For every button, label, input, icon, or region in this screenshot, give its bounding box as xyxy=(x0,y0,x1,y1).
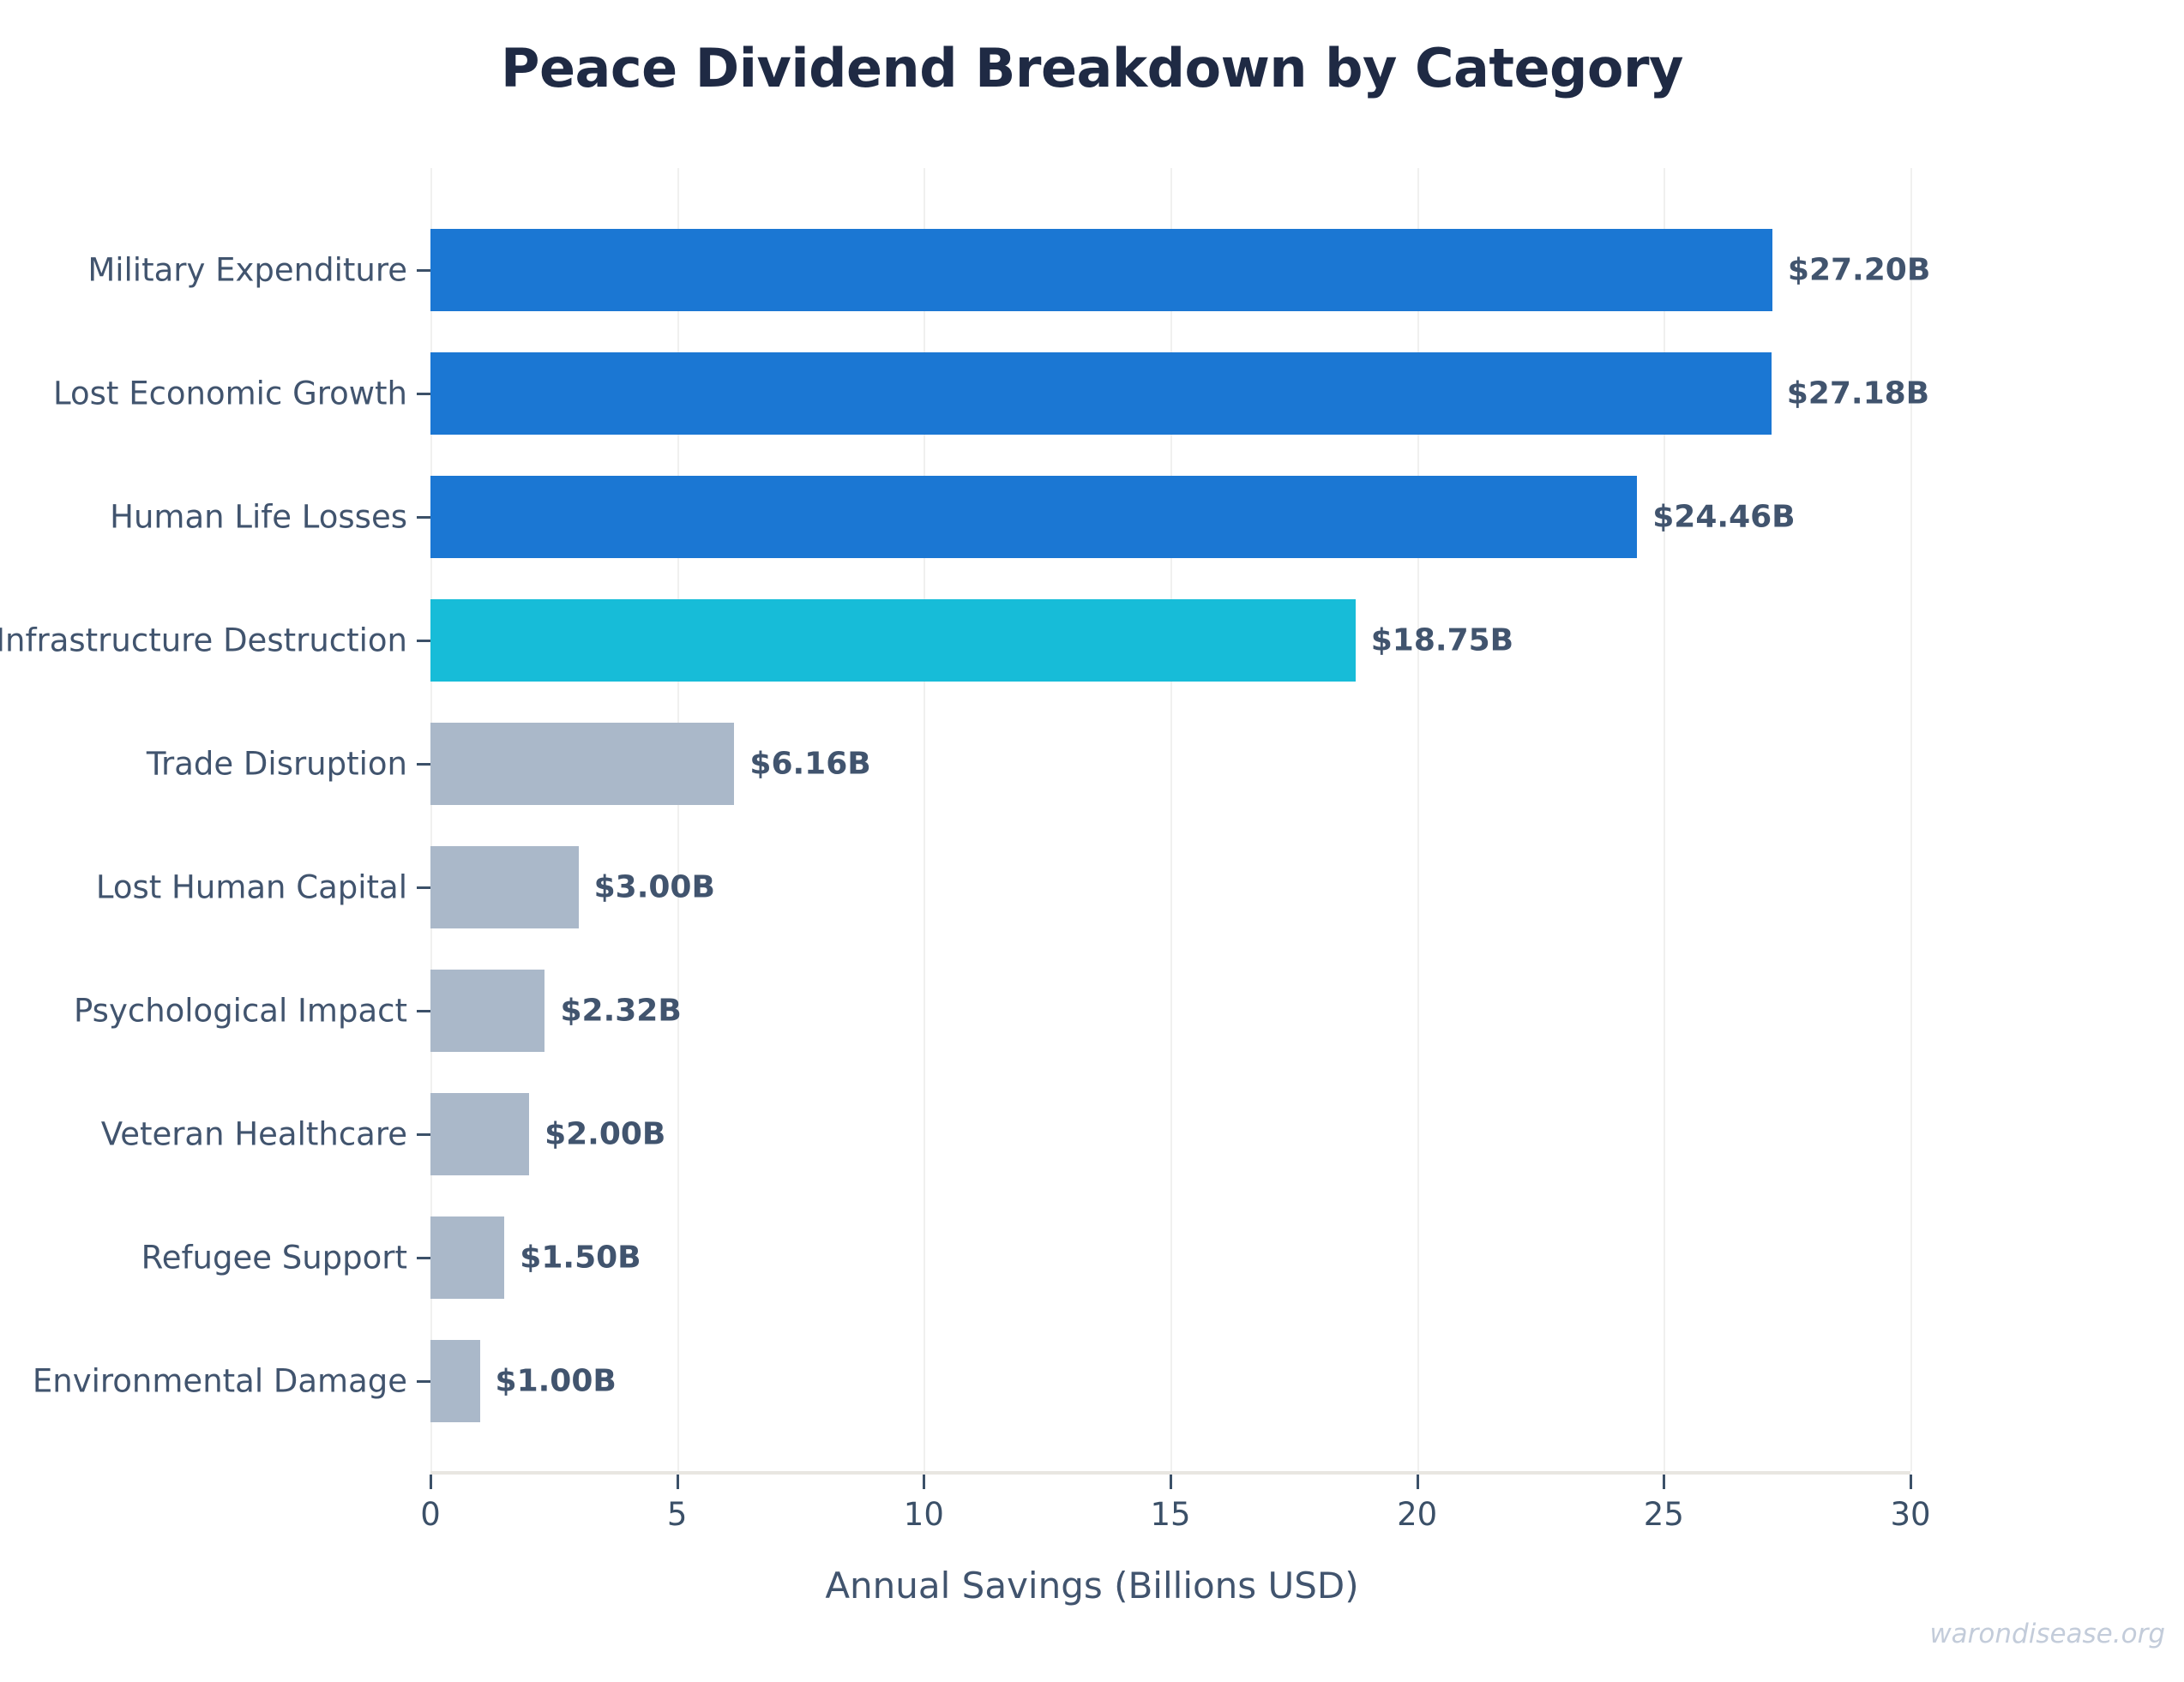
y-tick-mark xyxy=(417,886,430,889)
y-tick-mark xyxy=(417,393,430,395)
bar-value-label: $2.00B xyxy=(544,1117,665,1152)
x-tick-mark xyxy=(1170,1475,1172,1489)
y-axis-category-label: Trade Disruption xyxy=(147,746,407,783)
bar-row: $27.20B xyxy=(430,229,1910,311)
x-tick-mark xyxy=(1417,1475,1419,1489)
x-tick-label: 0 xyxy=(420,1496,441,1533)
bar-row: $27.18B xyxy=(430,352,1910,435)
y-tick-mark xyxy=(417,763,430,766)
x-tick-label: 15 xyxy=(1150,1496,1190,1533)
x-tick-label: 20 xyxy=(1397,1496,1437,1533)
bar[interactable] xyxy=(430,352,1772,435)
bar-row: $1.00B xyxy=(430,1340,1910,1422)
x-tick-mark xyxy=(677,1475,679,1489)
bar-value-label: $27.20B xyxy=(1788,253,1930,288)
x-axis-title: Annual Savings (Billions USD) xyxy=(0,1565,2184,1607)
bar[interactable] xyxy=(430,229,1772,311)
y-axis-category-label: Veteran Healthcare xyxy=(101,1116,407,1153)
bar-row: $2.00B xyxy=(430,1093,1910,1175)
bar-row: $1.50B xyxy=(430,1216,1910,1299)
y-tick-mark xyxy=(417,640,430,642)
bar[interactable] xyxy=(430,476,1637,558)
y-tick-mark xyxy=(417,516,430,519)
bar-value-label: $2.32B xyxy=(560,994,681,1029)
x-tick-mark xyxy=(923,1475,925,1489)
y-axis-category-label: Infrastructure Destruction xyxy=(0,622,407,659)
bar[interactable] xyxy=(430,1216,504,1299)
x-tick-label: 25 xyxy=(1644,1496,1684,1533)
bar-row: $3.00B xyxy=(430,846,1910,928)
bar[interactable] xyxy=(430,1340,480,1422)
bar-row: $24.46B xyxy=(430,476,1910,558)
bar-value-label: $3.00B xyxy=(594,870,715,905)
bar-value-label: $24.46B xyxy=(1652,500,1795,535)
y-tick-mark xyxy=(417,1133,430,1136)
y-axis-category-label: Human Life Losses xyxy=(110,499,407,536)
bar-row: $2.32B xyxy=(430,970,1910,1052)
y-axis-category-label: Lost Economic Growth xyxy=(53,375,407,412)
y-axis-category-label: Environmental Damage xyxy=(33,1363,407,1400)
y-tick-mark xyxy=(417,269,430,272)
x-tick-mark xyxy=(1663,1475,1665,1489)
x-tick-mark xyxy=(430,1475,432,1489)
x-tick-label: 5 xyxy=(667,1496,688,1533)
bar[interactable] xyxy=(430,1093,529,1175)
y-axis-category-label: Military Expenditure xyxy=(87,252,407,289)
x-tick-label: 30 xyxy=(1890,1496,1930,1533)
bar[interactable] xyxy=(430,846,579,928)
bar-value-label: $1.00B xyxy=(496,1364,617,1399)
bar-value-label: $27.18B xyxy=(1787,376,1929,411)
x-gridline xyxy=(1910,168,1912,1471)
bar[interactable] xyxy=(430,599,1356,682)
bar-value-label: $1.50B xyxy=(520,1240,641,1276)
bar[interactable] xyxy=(430,970,544,1052)
x-tick-label: 10 xyxy=(904,1496,944,1533)
x-tick-mark xyxy=(1910,1475,1912,1489)
y-tick-mark xyxy=(417,1010,430,1012)
bar-value-label: $18.75B xyxy=(1371,623,1513,658)
y-axis-category-label: Lost Human Capital xyxy=(96,869,407,906)
page-title: Peace Dividend Breakdown by Category xyxy=(0,39,2184,98)
watermark: warondisease.org xyxy=(1929,1619,2165,1649)
bar[interactable] xyxy=(430,723,734,805)
y-tick-mark xyxy=(417,1257,430,1259)
y-axis-category-label: Refugee Support xyxy=(141,1240,407,1277)
bar-row: $18.75B xyxy=(430,599,1910,682)
y-axis-category-label: Psychological Impact xyxy=(74,993,407,1030)
bar-value-label: $6.16B xyxy=(749,747,870,782)
y-tick-mark xyxy=(417,1380,430,1383)
bar-row: $6.16B xyxy=(430,723,1910,805)
